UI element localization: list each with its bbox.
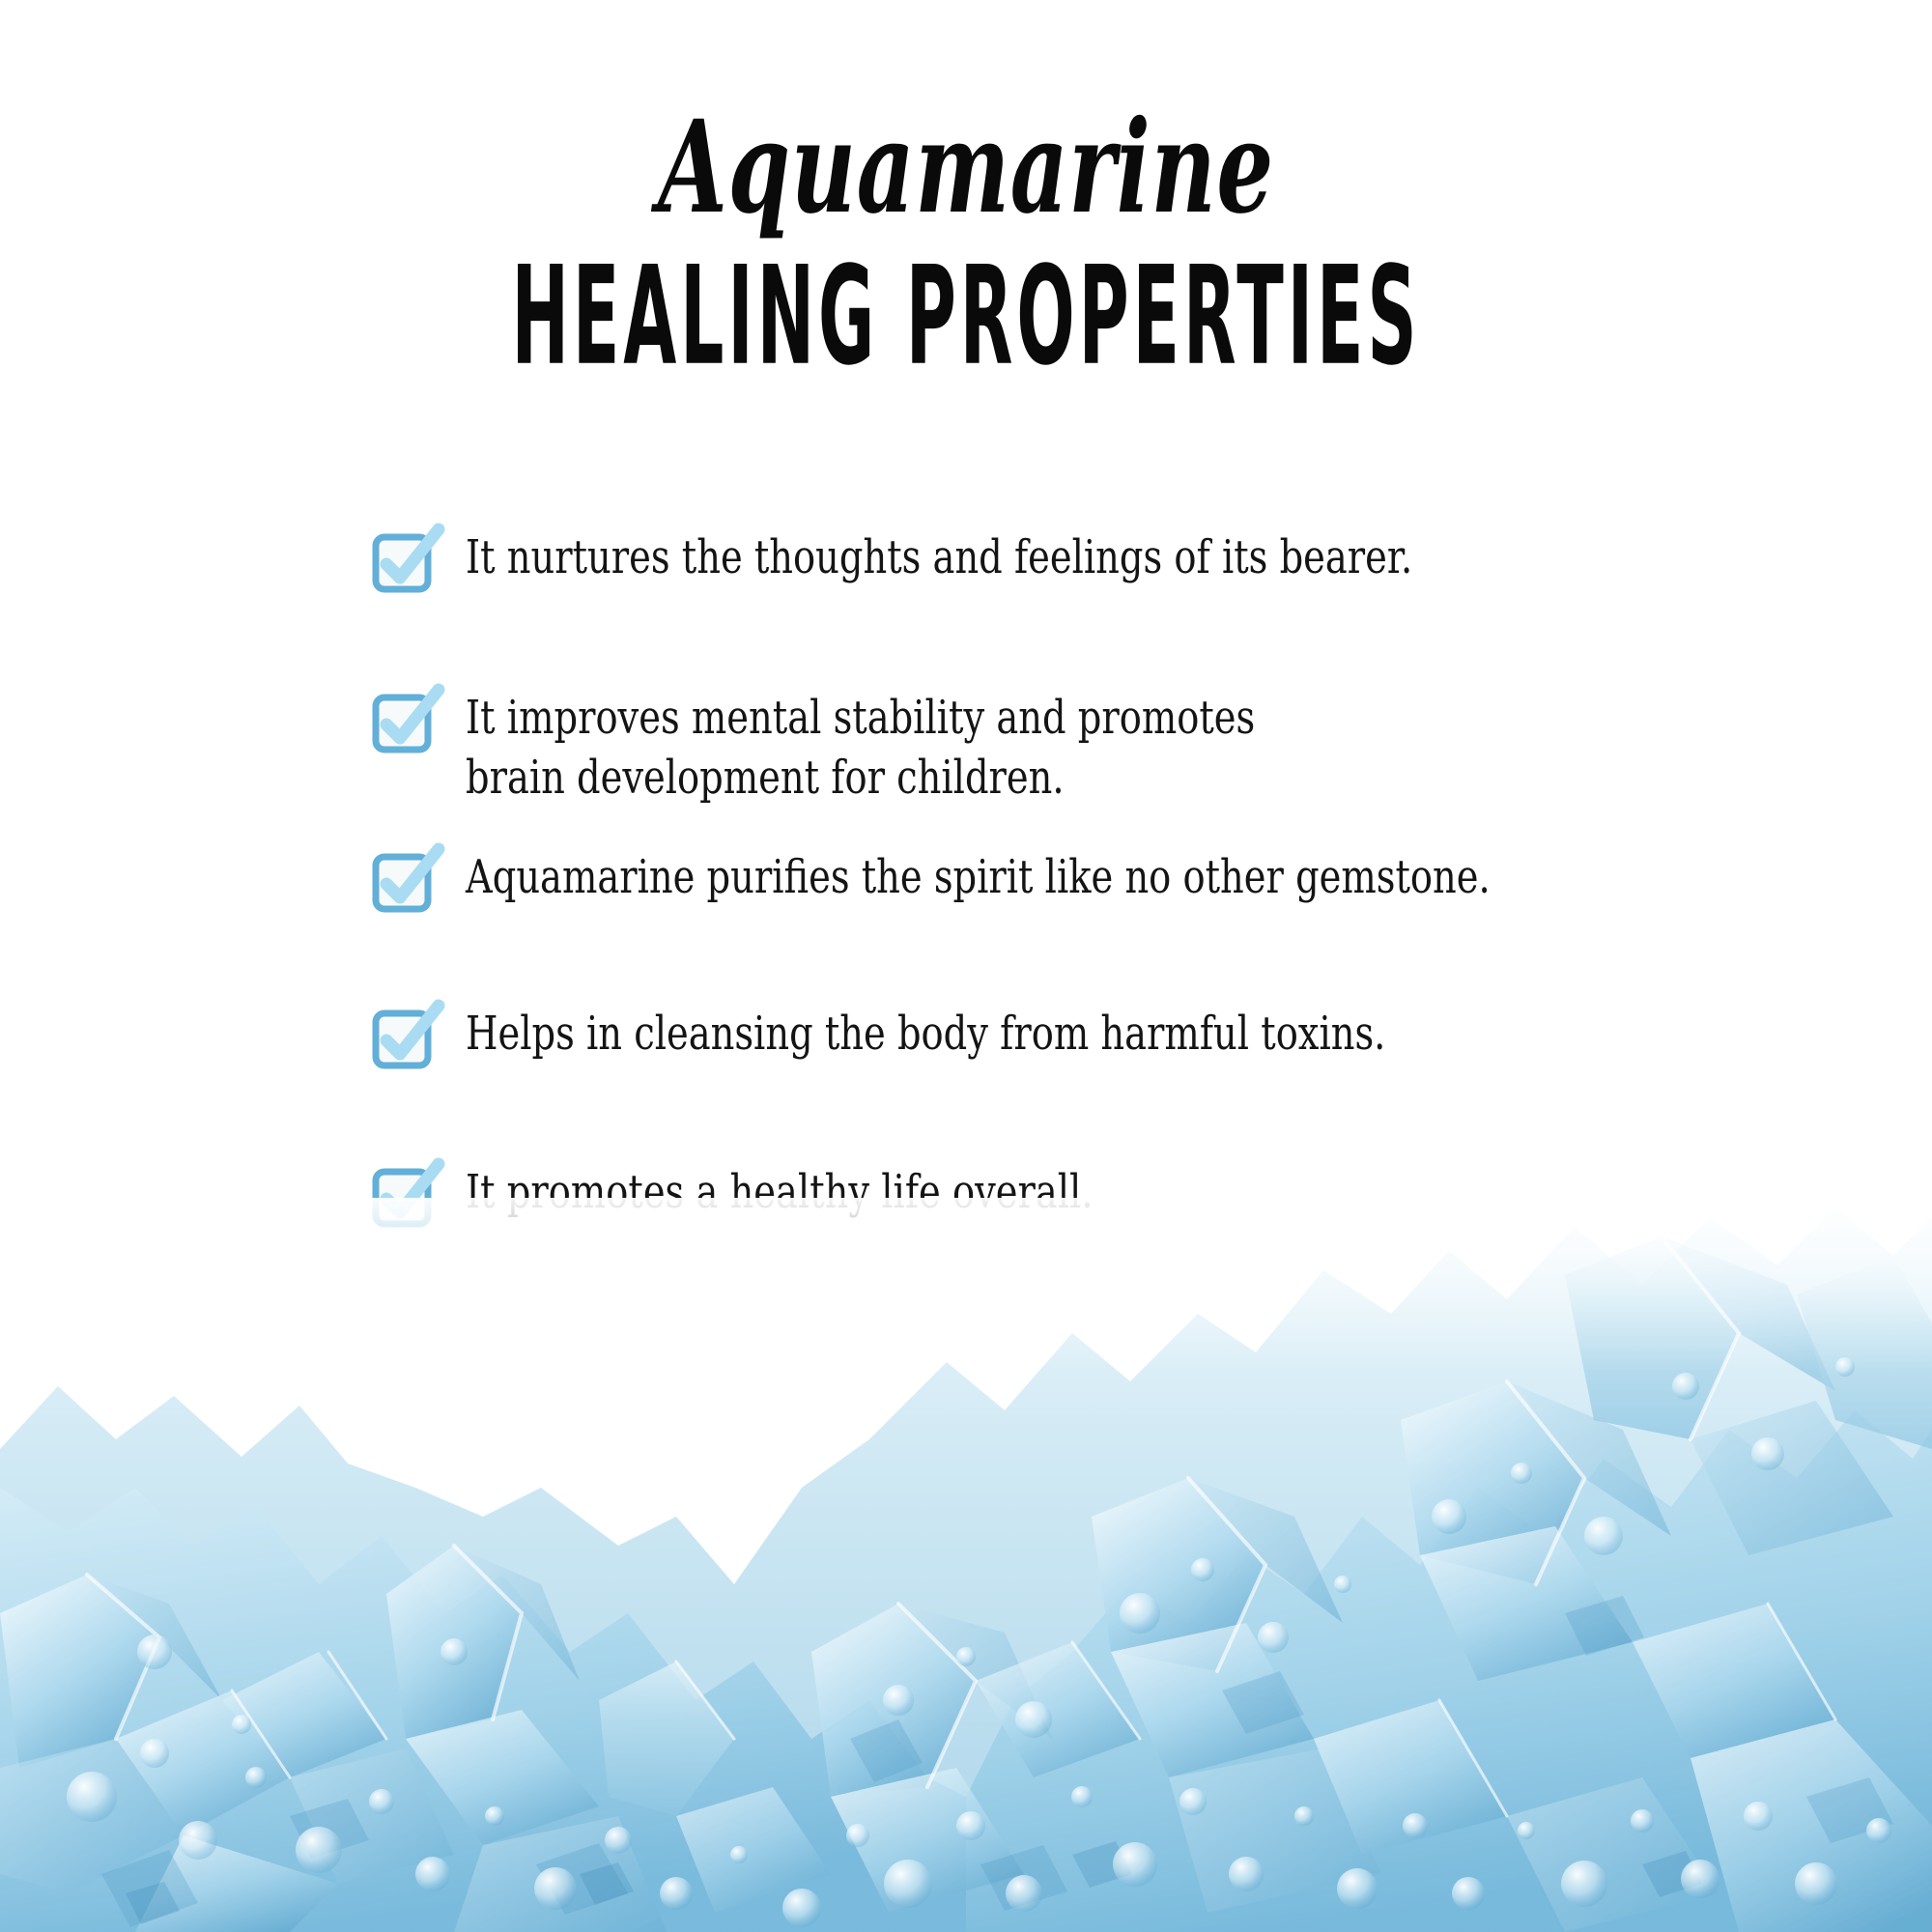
list-item-text: It improves mental stability and promote…: [466, 688, 1529, 809]
spacer: [375, 913, 1795, 1004]
list-item-text: Aquamarine purifies the spirit like no o…: [466, 847, 1529, 907]
poster-canvas: Aquamarine HEALING PROPERTIES It nurture…: [0, 0, 1932, 1932]
checkbox-checked-icon: [375, 853, 435, 913]
list-item-text: Helps in cleansing the body from harmful…: [466, 1004, 1529, 1064]
spacer: [375, 1069, 1795, 1162]
page-title: Aquamarine: [290, 104, 1642, 232]
list-item-line: It improves mental stability and promote…: [466, 688, 1529, 748]
list-item: It improves mental stability and promote…: [375, 688, 1795, 809]
page-subtitle: HEALING PROPERTIES: [430, 249, 1502, 385]
list-item-line: Helps in cleansing the body from harmful…: [466, 1004, 1529, 1064]
list-item-line: It nurtures the thoughts and feelings of…: [466, 527, 1529, 587]
list-item: Aquamarine purifies the spirit like no o…: [375, 847, 1795, 913]
list-item-line: Aquamarine purifies the spirit like no o…: [466, 847, 1529, 907]
checkbox-checked-icon: [375, 1009, 435, 1069]
healing-properties-list: It nurtures the thoughts and feelings of…: [375, 527, 1795, 1228]
ice-cubes-photo: [0, 1198, 1932, 1932]
list-item-line: brain development for children.: [466, 748, 1529, 808]
list-item-text: It nurtures the thoughts and feelings of…: [466, 527, 1529, 587]
list-item: Helps in cleansing the body from harmful…: [375, 1004, 1795, 1069]
checkbox-checked-icon: [375, 533, 435, 593]
list-item: It nurtures the thoughts and feelings of…: [375, 527, 1795, 593]
poster-header: Aquamarine HEALING PROPERTIES: [0, 0, 1932, 373]
spacer: [375, 809, 1795, 847]
checkbox-checked-icon: [375, 694, 435, 753]
spacer: [375, 593, 1795, 688]
